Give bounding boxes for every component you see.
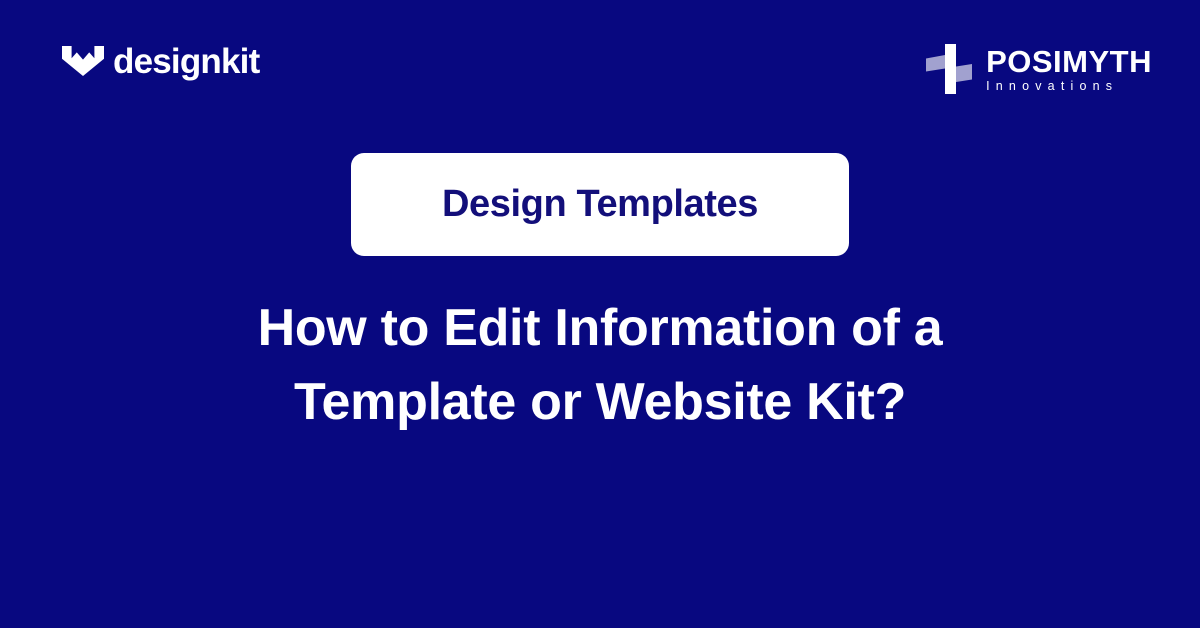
headline-line-2: Template or Website Kit? [258,366,943,440]
banner-content: Design Templates How to Edit Information… [0,0,1200,628]
headline-line-1: How to Edit Information of a [258,292,943,366]
banner: designkit POSIMYTH Innovations Design Te… [0,0,1200,628]
page-title: How to Edit Information of a Template or… [258,292,943,440]
category-badge-label: Design Templates [442,185,758,223]
category-badge[interactable]: Design Templates [351,153,849,256]
